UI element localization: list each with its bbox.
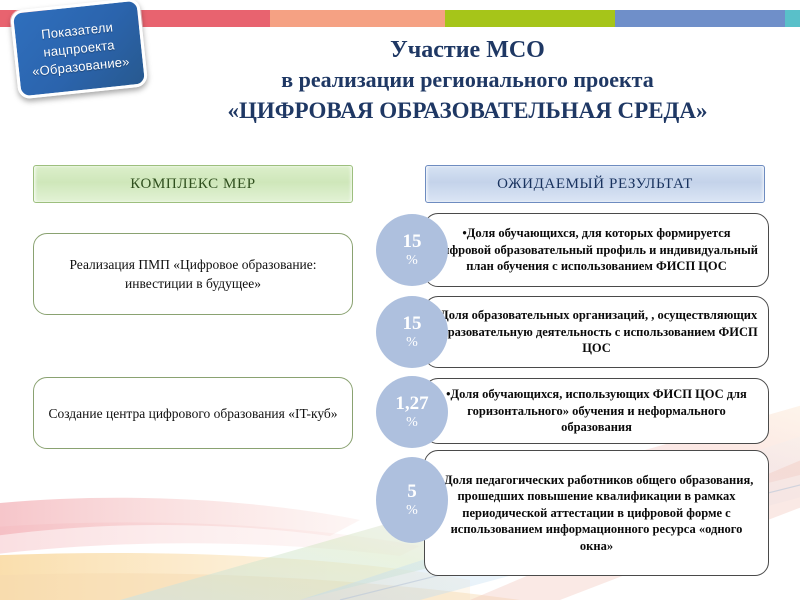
percent-sign: %	[406, 252, 418, 269]
result-text-box: •Доля педагогических работников общего о…	[424, 450, 769, 576]
percent-value: 5	[407, 481, 417, 502]
result-text-box: •Доля образовательных организаций, , осу…	[424, 296, 769, 368]
slide-title: Участие МСО в реализации регионального п…	[145, 36, 790, 126]
title-line-3: «ЦИФРОВАЯ ОБРАЗОВАТЕЛЬНАЯ СРЕДА»	[145, 95, 790, 126]
percent-circle: 15 %	[376, 214, 448, 286]
measure-box: Реализация ПМП «Цифровое образование: ин…	[33, 233, 353, 315]
national-project-badge: Показатели нацпроекта «Образование»	[10, 0, 149, 100]
result-text-box: •Доля обучающихся, использующих ФИСП ЦОС…	[424, 378, 769, 444]
topbar-segment-blue	[615, 10, 785, 27]
slide-canvas: Показатели нацпроекта «Образование» Учас…	[0, 0, 800, 600]
title-line-2: в реализации регионального проекта	[145, 65, 790, 95]
percent-circle: 15 %	[376, 296, 448, 368]
percent-sign: %	[406, 502, 418, 519]
percent-value: 15	[403, 313, 422, 334]
percent-value: 15	[403, 231, 422, 252]
topbar-segment-teal	[785, 10, 800, 27]
percent-value: 1,27	[395, 393, 428, 414]
percent-sign: %	[406, 334, 418, 351]
title-line-1: Участие МСО	[145, 36, 790, 65]
topbar-segment-lime	[445, 10, 615, 27]
badge-text-block: Показатели нацпроекта «Образование»	[28, 17, 131, 81]
percent-sign: %	[406, 414, 418, 431]
measure-box: Создание центра цифрового образования «I…	[33, 377, 353, 449]
percent-circle: 1,27 %	[376, 376, 448, 448]
topbar-segment-salmon	[270, 10, 445, 27]
percent-circle: 5 %	[376, 457, 448, 543]
column-header-measures: КОМПЛЕКС МЕР	[33, 165, 353, 203]
column-header-results: ОЖИДАЕМЫЙ РЕЗУЛЬТАТ	[425, 165, 765, 203]
result-text-box: •Доля обучающихся, для которых формирует…	[424, 213, 769, 287]
